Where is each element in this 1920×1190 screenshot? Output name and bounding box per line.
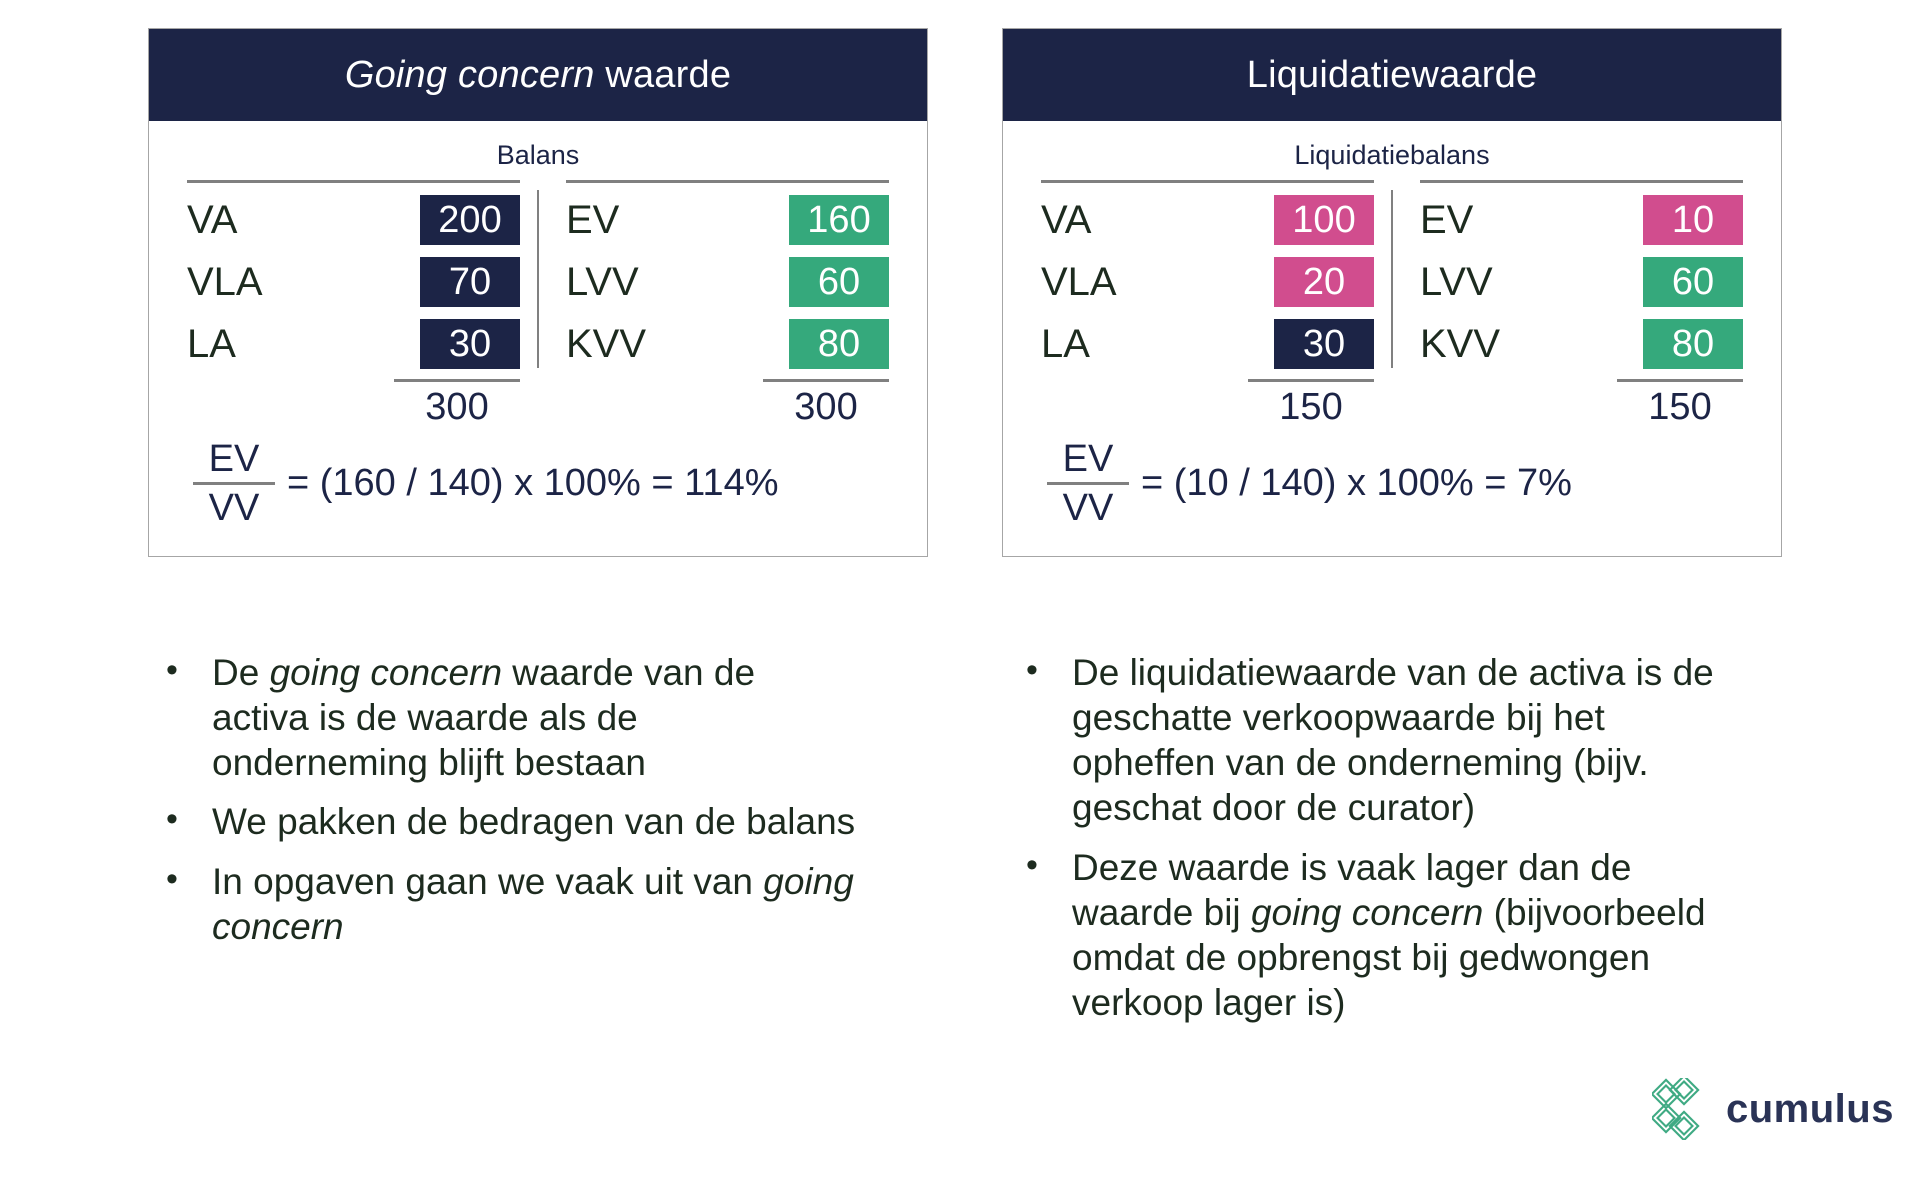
panel-header-going-concern: Going concern waarde (149, 29, 927, 121)
asset-label: VLA (187, 262, 263, 302)
balance-sheet-going-concern: VA 200 VLA 70 LA 30 300 (183, 180, 893, 432)
liability-value-box: 160 (789, 195, 889, 245)
formula-expression: = (10 / 140) x 100% = 7% (1141, 462, 1572, 505)
panel-going-concern: Going concern waarde Balans VA 200 VLA 7… (148, 28, 928, 557)
liability-label: LVV (566, 262, 639, 302)
panel-title-liquidatiewaarde: Liquidatiewaarde (1247, 54, 1538, 97)
fraction-denominator: VV (203, 487, 266, 530)
list-item: •De liquidatiewaarde van de activa is de… (1020, 650, 1720, 831)
liability-value-box: 60 (789, 257, 889, 307)
list-item-text: De going concern waarde van de activa is… (212, 650, 860, 785)
liabilities-total-value: 150 (1617, 384, 1743, 432)
assets-top-rule (187, 180, 520, 183)
balance-liabilities-column: EV 10 LVV 60 KVV 80 150 (1392, 180, 1747, 432)
panel-header-liquidatiewaarde: Liquidatiewaarde (1003, 29, 1781, 121)
fraction-bar (1047, 482, 1129, 485)
cumulus-logo: cumulus (1652, 1078, 1894, 1140)
liability-value-box: 80 (789, 319, 889, 369)
list-item-text: De liquidatiewaarde van de activa is de … (1072, 650, 1720, 831)
assets-total-wrap: 300 (187, 375, 520, 432)
balance-caption-liquidatiebalans: Liquidatiebalans (1037, 135, 1747, 180)
liabilities-top-rule (1420, 180, 1743, 183)
liabilities-top-rule (566, 180, 889, 183)
asset-value-box: 100 (1274, 195, 1374, 245)
balance-caption-balans: Balans (183, 135, 893, 180)
table-row: VLA 70 (187, 251, 520, 313)
formula-going-concern: EV VV = (160 / 140) x 100% = 114% (183, 438, 893, 530)
asset-label: LA (1041, 324, 1090, 364)
bullet-marker-icon: • (160, 650, 212, 691)
list-item-text: In opgaven gaan we vaak uit van going co… (212, 859, 860, 949)
panel-liquidatiewaarde: Liquidatiewaarde Liquidatiebalans VA 100… (1002, 28, 1782, 557)
list-item: •We pakken de bedragen van de balans (160, 799, 860, 844)
list-item: •De going concern waarde van de activa i… (160, 650, 860, 785)
liabilities-total-rule (763, 379, 889, 382)
balance-liabilities-column: EV 160 LVV 60 KVV 80 300 (538, 180, 893, 432)
assets-total-value: 150 (1248, 384, 1374, 432)
plain-text: De (212, 652, 270, 693)
bullet-marker-icon: • (1020, 650, 1072, 691)
liability-label: KVV (566, 324, 646, 364)
assets-total-value: 300 (394, 384, 520, 432)
bullet-list-liquidatiewaarde: •De liquidatiewaarde van de activa is de… (1020, 650, 1720, 1039)
asset-value-box: 30 (1274, 319, 1374, 369)
table-row: LVV 60 (1420, 251, 1743, 313)
liability-label: LVV (1420, 262, 1493, 302)
liabilities-total-wrap: 150 (1420, 375, 1743, 432)
asset-value-box: 70 (420, 257, 520, 307)
plain-text: We pakken de bedragen van de balans (212, 801, 855, 842)
cumulus-logo-mark-icon (1652, 1078, 1710, 1140)
table-row: EV 160 (566, 189, 889, 251)
plain-text: In opgaven gaan we vaak uit van (212, 861, 763, 902)
panel-body-going-concern: Balans VA 200 VLA 70 LA 30 (149, 121, 927, 556)
table-row: LVV 60 (566, 251, 889, 313)
panel-body-liquidatiewaarde: Liquidatiebalans VA 100 VLA 20 LA (1003, 121, 1781, 556)
liability-label: EV (1420, 200, 1473, 240)
fraction-numerator: EV (1057, 438, 1120, 481)
bullet-marker-icon: • (160, 799, 212, 840)
table-row: KVV 80 (566, 313, 889, 375)
liabilities-total-box: 300 (763, 375, 889, 432)
assets-top-rule (1041, 180, 1374, 183)
assets-total-box: 300 (394, 375, 520, 432)
formula-expression: = (160 / 140) x 100% = 114% (287, 462, 779, 505)
assets-total-wrap: 150 (1041, 375, 1374, 432)
fraction-bar (193, 482, 275, 485)
cumulus-logo-text: cumulus (1726, 1089, 1894, 1129)
plain-text: De liquidatiewaarde van de activa is de … (1072, 652, 1714, 828)
assets-total-rule (1248, 379, 1374, 382)
liability-label: EV (566, 200, 619, 240)
liability-value-box: 60 (1643, 257, 1743, 307)
table-row: VA 100 (1041, 189, 1374, 251)
table-row: LA 30 (1041, 313, 1374, 375)
assets-total-rule (394, 379, 520, 382)
list-item-text: We pakken de bedragen van de balans (212, 799, 860, 844)
panel-title-going-concern: Going concern waarde (345, 54, 731, 97)
balance-assets-column: VA 100 VLA 20 LA 30 150 (1037, 180, 1392, 432)
asset-value-box: 20 (1274, 257, 1374, 307)
list-item-text: Deze waarde is vaak lager dan de waarde … (1072, 845, 1720, 1026)
liabilities-total-box: 150 (1617, 375, 1743, 432)
table-row: VLA 20 (1041, 251, 1374, 313)
fraction-ev-vv: EV VV (1047, 438, 1129, 530)
table-row: KVV 80 (1420, 313, 1743, 375)
list-item: •In opgaven gaan we vaak uit van going c… (160, 859, 860, 949)
bullet-marker-icon: • (1020, 845, 1072, 886)
bullet-marker-icon: • (160, 859, 212, 900)
asset-label: VLA (1041, 262, 1117, 302)
liabilities-total-rule (1617, 379, 1743, 382)
liabilities-total-value: 300 (763, 384, 889, 432)
balance-assets-column: VA 200 VLA 70 LA 30 300 (183, 180, 538, 432)
assets-total-box: 150 (1248, 375, 1374, 432)
bullet-list-going-concern: •De going concern waarde van de activa i… (160, 650, 860, 963)
fraction-denominator: VV (1057, 487, 1120, 530)
balance-sheet-liquidatie: VA 100 VLA 20 LA 30 150 (1037, 180, 1747, 432)
table-row: EV 10 (1420, 189, 1743, 251)
asset-label: VA (187, 200, 237, 240)
table-row: VA 200 (187, 189, 520, 251)
emphasis-text: going concern (270, 652, 502, 693)
liability-label: KVV (1420, 324, 1500, 364)
emphasis-text: going concern (1251, 892, 1483, 933)
panel-title-rest-part: waarde (595, 54, 732, 96)
table-row: LA 30 (187, 313, 520, 375)
liability-value-box: 80 (1643, 319, 1743, 369)
slide-root: Going concern waarde Balans VA 200 VLA 7… (0, 0, 1920, 1190)
list-item: •Deze waarde is vaak lager dan de waarde… (1020, 845, 1720, 1026)
fraction-numerator: EV (203, 438, 266, 481)
asset-value-box: 200 (420, 195, 520, 245)
asset-label: VA (1041, 200, 1091, 240)
panel-title-rest-part: Liquidatiewaarde (1247, 54, 1538, 96)
asset-label: LA (187, 324, 236, 364)
panel-title-italic-part: Going concern (345, 54, 595, 96)
formula-liquidatiewaarde: EV VV = (10 / 140) x 100% = 7% (1037, 438, 1747, 530)
liability-value-box: 10 (1643, 195, 1743, 245)
asset-value-box: 30 (420, 319, 520, 369)
fraction-ev-vv: EV VV (193, 438, 275, 530)
liabilities-total-wrap: 300 (566, 375, 889, 432)
